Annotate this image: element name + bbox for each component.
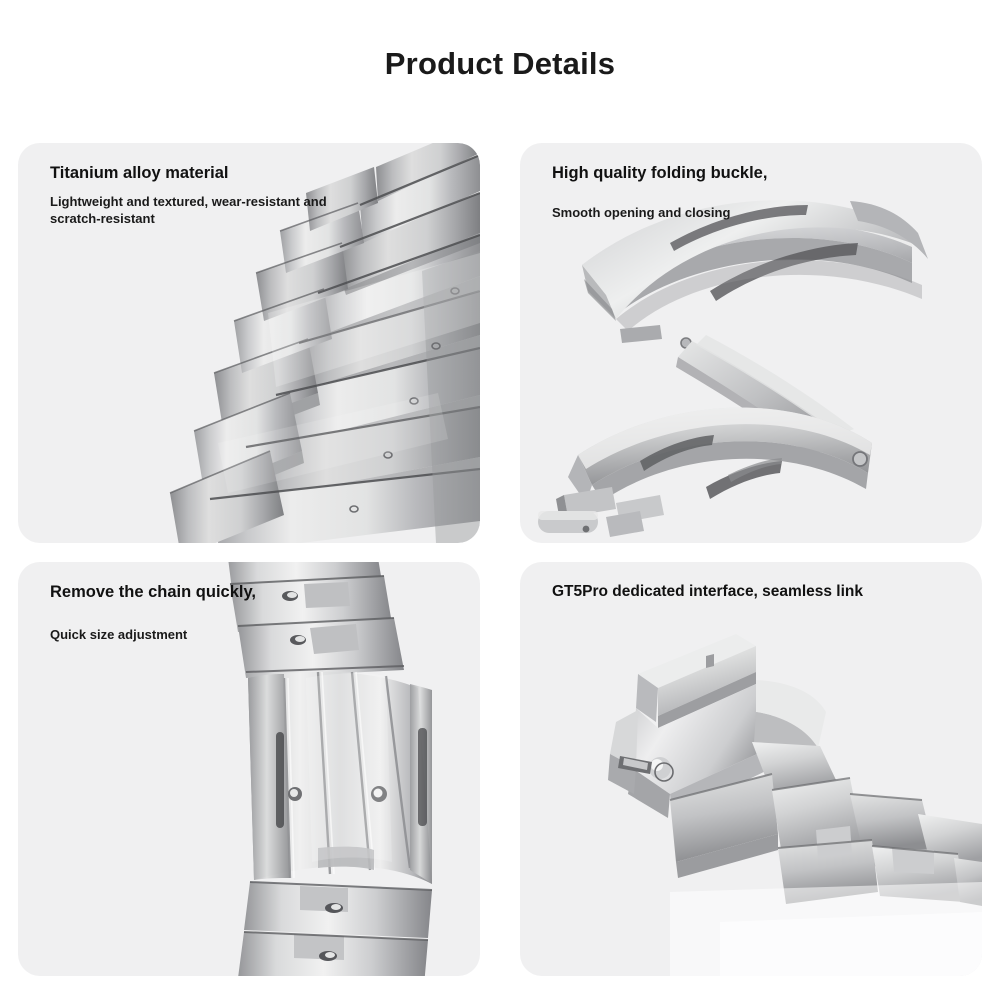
card-text-block: Remove the chain quickly, Quick size adj…	[50, 582, 256, 643]
card-text-block: GT5Pro dedicated interface, seamless lin…	[552, 582, 863, 601]
card-title: GT5Pro dedicated interface, seamless lin…	[552, 582, 863, 601]
card-remove-chain-quickly[interactable]: Remove the chain quickly, Quick size adj…	[18, 562, 480, 976]
card-title: High quality folding buckle,	[552, 163, 767, 184]
product-details-page: Product Details	[0, 0, 1000, 1000]
card-text-block: High quality folding buckle, Smooth open…	[552, 163, 767, 221]
page-title: Product Details	[0, 46, 1000, 82]
feature-card-grid: Titanium alloy material Lightweight and …	[18, 143, 982, 976]
card-subtitle: Quick size adjustment	[50, 626, 256, 644]
card-title: Titanium alloy material	[50, 163, 350, 184]
card-gt5pro-interface[interactable]: GT5Pro dedicated interface, seamless lin…	[520, 562, 982, 976]
card-subtitle: Lightweight and textured, wear-resistant…	[50, 193, 350, 228]
lug-interface-illustration	[520, 562, 982, 976]
card-title: Remove the chain quickly,	[50, 582, 256, 603]
card-text-block: Titanium alloy material Lightweight and …	[50, 163, 350, 228]
card-titanium-alloy-material[interactable]: Titanium alloy material Lightweight and …	[18, 143, 480, 543]
card-folding-buckle[interactable]: High quality folding buckle, Smooth open…	[520, 143, 982, 543]
card-subtitle: Smooth opening and closing	[552, 204, 767, 222]
